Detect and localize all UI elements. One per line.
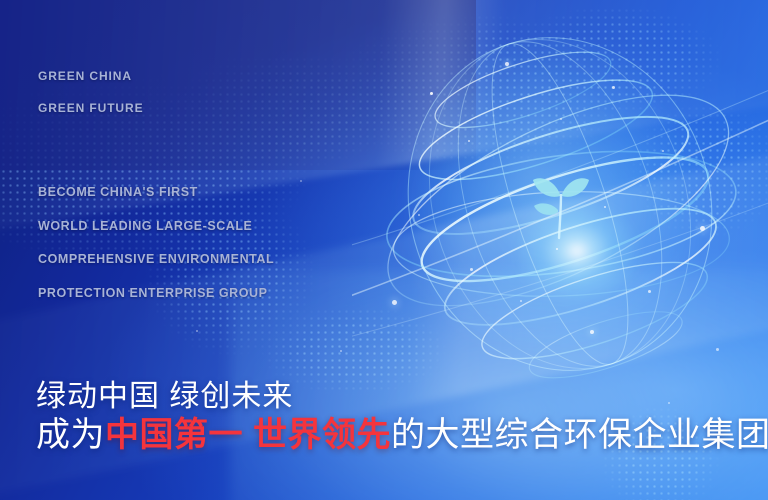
mission-line-4: PROTECTION ENTERPRISE GROUP	[38, 287, 274, 300]
headline-highlight: 中国第一 世界领先	[105, 416, 391, 454]
tagline-line-2: GREEN FUTURE	[38, 102, 143, 114]
mission-line-1: BECOME CHINA'S FIRST	[38, 186, 274, 199]
headline-line-2: 成为中国第一 世界领先的大型综合环保企业集团	[36, 415, 768, 456]
headline-block: 绿动中国 绿创未来 成为中国第一 世界领先的大型综合环保企业集团	[36, 379, 768, 456]
mission-line-3: COMPREHENSIVE ENVIRONMENTAL	[38, 253, 274, 266]
tagline-line-1: GREEN CHINA	[38, 70, 143, 82]
tagline-block: GREEN CHINA GREEN FUTURE	[38, 70, 143, 134]
mission-line-2: WORLD LEADING LARGE-SCALE	[38, 220, 274, 233]
wireframe-globe	[352, 18, 768, 384]
banner-root: GREEN CHINA GREEN FUTURE BECOME CHINA'S …	[0, 0, 768, 500]
mission-block: BECOME CHINA'S FIRST WORLD LEADING LARGE…	[38, 186, 274, 320]
headline-suffix: 的大型综合环保企业集团	[391, 416, 768, 454]
headline-prefix: 成为	[36, 416, 105, 454]
headline-line-1: 绿动中国 绿创未来	[36, 379, 768, 416]
